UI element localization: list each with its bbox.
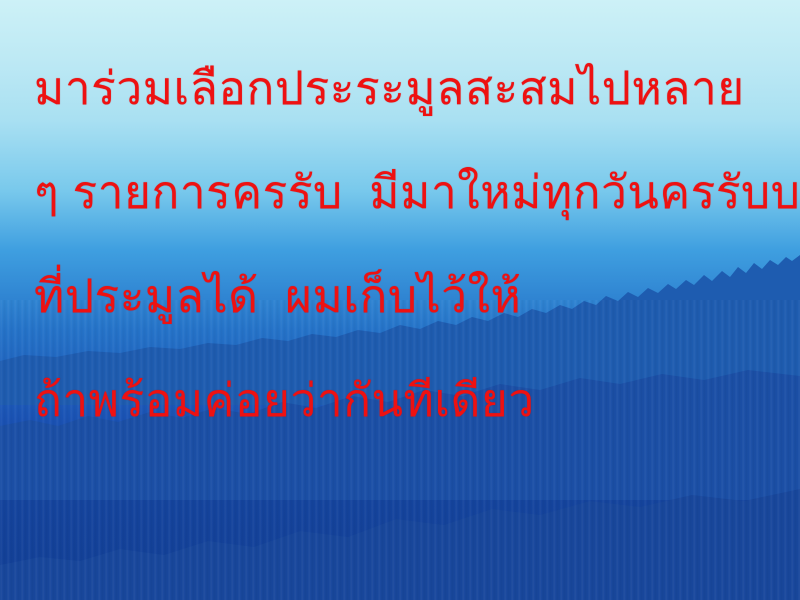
caption-block: มาร่วมเลือกประระมูลสะสมไปหลาย ๆ รายการคร… [34,36,774,452]
caption-line-2: ๆ รายการครรับ มีมาใหม่ทุกวันครรับบ [34,140,774,244]
caption-line-3: ที่ประมูลได้ ผมเก็บไว้ให้ [34,244,774,348]
caption-line-4: ถ้าพร้อมค่อยว่ากันทีเดียว [34,348,774,452]
promotional-banner: มาร่วมเลือกประระมูลสะสมไปหลาย ๆ รายการคร… [0,0,800,600]
caption-line-1: มาร่วมเลือกประระมูลสะสมไปหลาย [34,36,774,140]
